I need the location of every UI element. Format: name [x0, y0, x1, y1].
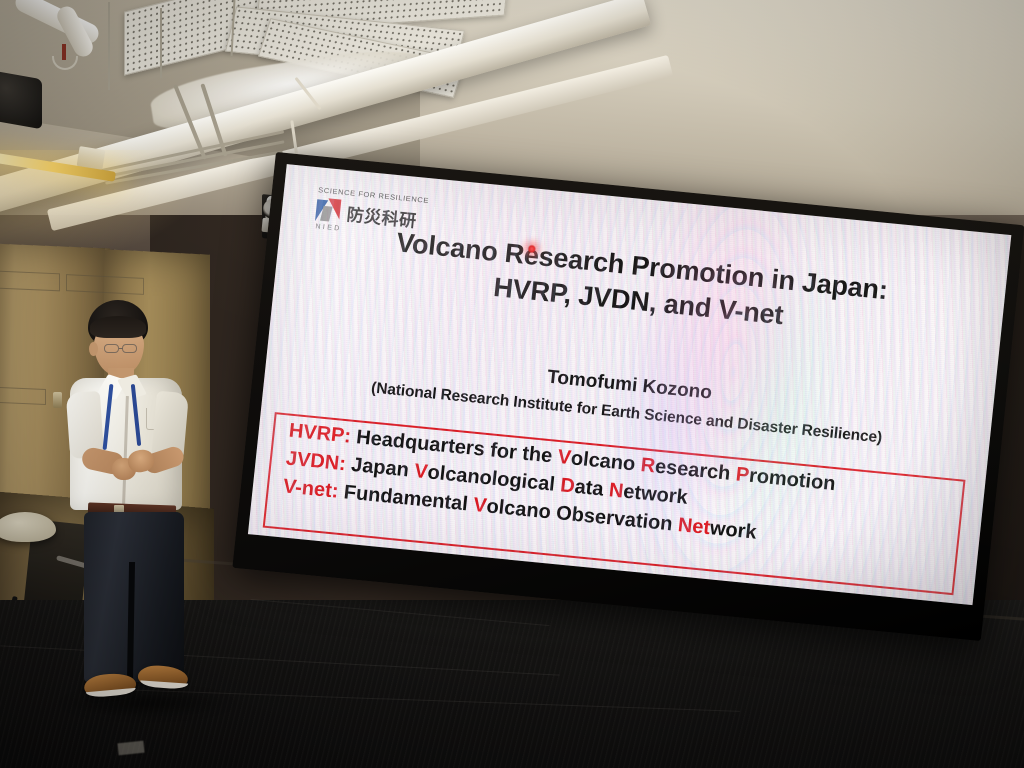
glasses-lens-left — [104, 344, 119, 353]
acronym-key: HVRP: — [288, 420, 352, 448]
display-screen[interactable]: SCIENCE FOR RESILIENCE 防災科研 NIED Volcano… — [248, 164, 1011, 605]
acronym-text: ata — [574, 476, 611, 501]
slide-title: Volcano Research Promotion in Japan: HVR… — [274, 214, 1006, 354]
glasses-bridge — [119, 348, 123, 349]
presentation-slide: SCIENCE FOR RESILIENCE 防災科研 NIED Volcano… — [248, 164, 1011, 605]
ceiling-hanger-rod — [160, 8, 162, 78]
acronym-key: JVDN: — [285, 447, 347, 475]
presenter-hair-front — [90, 316, 146, 338]
acronym-text: olcano — [570, 447, 642, 476]
display-brand-logo — [468, 569, 579, 591]
cabinet-handle[interactable] — [53, 392, 62, 408]
acronym-text: esearch — [654, 456, 737, 486]
ceiling-black-fixture — [0, 69, 42, 130]
wall-display[interactable]: SCIENCE FOR RESILIENCE 防災科研 NIED Volcano… — [227, 152, 1024, 693]
acronym-text: etwork — [622, 481, 688, 509]
room-photo: SCIENCE FOR RESILIENCE 防災科研 NIED Volcano… — [0, 0, 1024, 768]
acronym-text: romotion — [748, 465, 837, 495]
presenter — [62, 300, 242, 730]
acronym-text: Japan — [345, 453, 416, 482]
acronym-highlight-letter: Net — [677, 514, 711, 539]
presenter-ear — [89, 342, 98, 356]
cabinet-vent-grille — [0, 387, 46, 405]
cabinet-vent-grille — [0, 271, 60, 292]
ceiling-hanger-rod — [108, 2, 110, 90]
acronym-key: V-net: — [282, 475, 340, 502]
acronym-text: work — [709, 517, 758, 543]
glasses-lens-right — [122, 344, 137, 353]
